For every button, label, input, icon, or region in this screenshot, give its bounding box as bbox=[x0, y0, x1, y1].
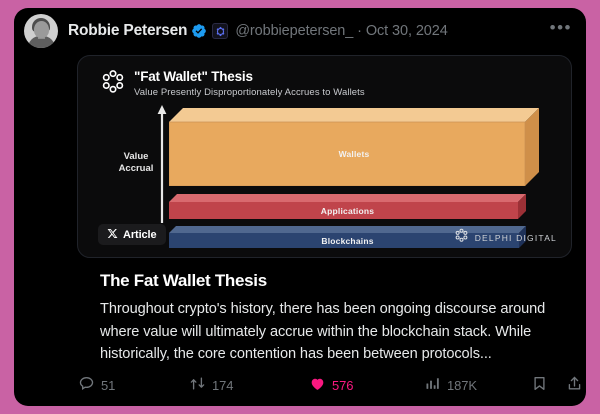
axis-label-value-accrual: Value Accrual bbox=[113, 151, 159, 175]
reply-count: 51 bbox=[101, 378, 115, 393]
share-icon bbox=[566, 375, 583, 395]
delphi-digital-watermark: DELPHI DIGITAL bbox=[454, 228, 557, 248]
author-display-name[interactable]: Robbie Petersen bbox=[68, 22, 187, 40]
retweet-button[interactable]: 174 bbox=[189, 375, 233, 395]
bookmark-icon bbox=[531, 375, 548, 395]
meta-separator: · bbox=[357, 23, 362, 39]
like-count: 576 bbox=[332, 378, 353, 393]
watermark-text: DELPHI DIGITAL bbox=[475, 233, 557, 243]
share-button[interactable] bbox=[566, 375, 586, 395]
bar-label-applications: Applications bbox=[321, 206, 374, 216]
author-handle[interactable]: @robbiepetersen_ bbox=[235, 23, 353, 39]
avatar[interactable] bbox=[24, 14, 58, 48]
views-count: 187K bbox=[447, 378, 477, 393]
retweet-count: 174 bbox=[212, 378, 233, 393]
bar-wallets: Wallets bbox=[169, 108, 539, 186]
author-handle-and-date: @robbiepetersen_ · Oct 30, 2024 bbox=[235, 23, 447, 39]
bar-applications: Applications bbox=[169, 194, 526, 219]
views-button[interactable]: 187K bbox=[424, 375, 477, 395]
views-bar-icon bbox=[424, 375, 441, 395]
axis-label-line-1: Value bbox=[113, 151, 159, 163]
bar-label-blockchains: Blockchains bbox=[321, 236, 373, 246]
more-options-icon[interactable]: ••• bbox=[550, 24, 572, 38]
bookmark-button[interactable] bbox=[531, 375, 554, 395]
chart-title: "Fat Wallet" Thesis bbox=[134, 69, 253, 84]
delphi-ring-logo-icon bbox=[454, 228, 469, 248]
action-bar: 51 174 576 bbox=[14, 372, 586, 398]
delphi-ring-logo-icon bbox=[100, 69, 126, 95]
axis-label-line-2: Accrual bbox=[113, 163, 159, 175]
verified-check-icon bbox=[191, 23, 207, 39]
x-logo-icon bbox=[107, 226, 118, 244]
reply-button[interactable]: 51 bbox=[78, 375, 115, 395]
heart-filled-icon bbox=[309, 375, 326, 395]
article-title[interactable]: The Fat Wallet Thesis bbox=[100, 271, 267, 291]
chart-subtitle: Value Presently Disproportionately Accru… bbox=[134, 87, 365, 98]
tweet-card: Robbie Petersen @robbiepetersen_ · Oc bbox=[14, 8, 586, 406]
delphi-affiliate-badge-icon[interactable] bbox=[212, 23, 228, 39]
article-body: Throughout crypto's history, there has b… bbox=[100, 298, 570, 366]
like-button[interactable]: 576 bbox=[309, 375, 353, 395]
media-chart-card[interactable]: "Fat Wallet" Thesis Value Presently Disp… bbox=[77, 55, 572, 258]
retweet-icon bbox=[189, 375, 206, 395]
reply-icon bbox=[78, 375, 95, 395]
article-badge[interactable]: Article bbox=[98, 224, 166, 245]
avatar-photo bbox=[24, 15, 58, 48]
tweet-date[interactable]: Oct 30, 2024 bbox=[366, 23, 448, 39]
article-badge-label: Article bbox=[123, 229, 157, 241]
tweet-header: Robbie Petersen @robbiepetersen_ · Oc bbox=[14, 8, 586, 54]
bar-label-wallets: Wallets bbox=[339, 149, 370, 159]
